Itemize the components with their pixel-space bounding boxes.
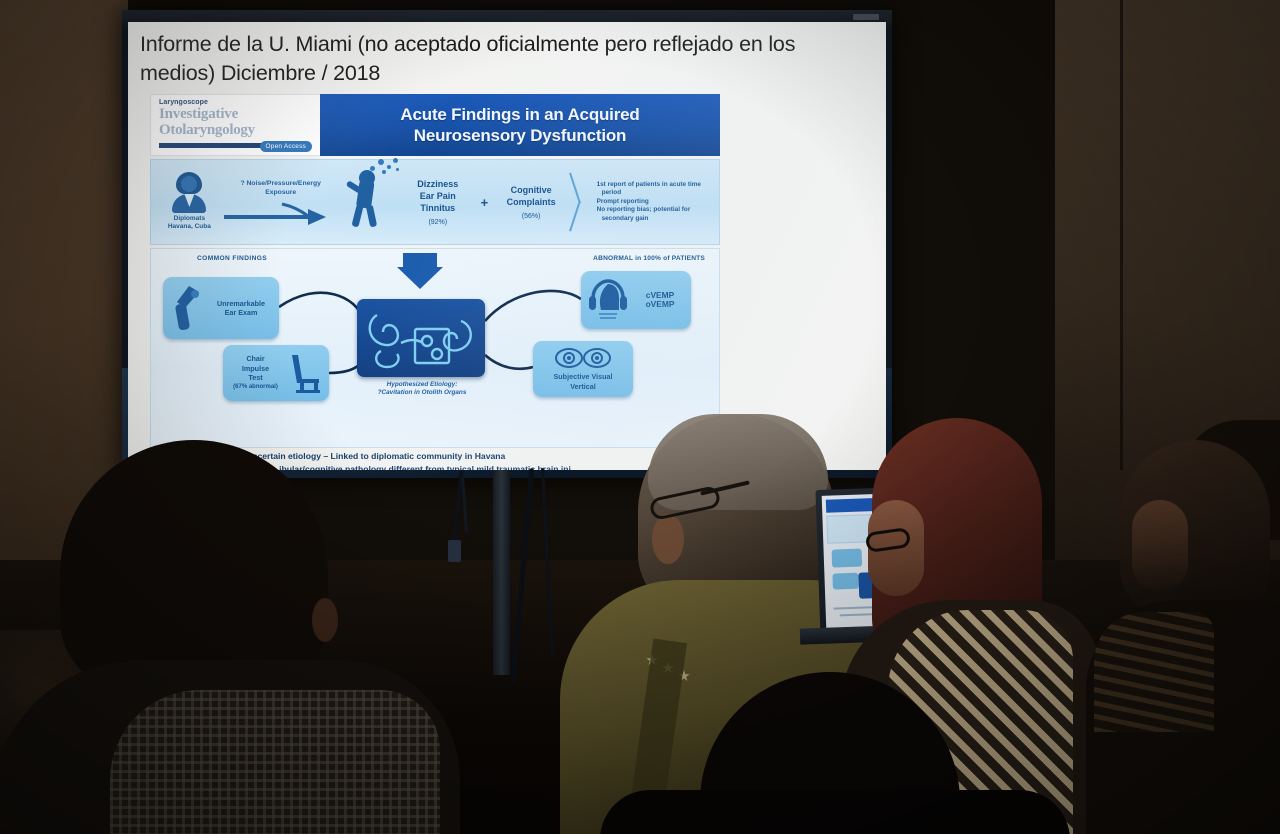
card-chair-impulse-label: Chair Impulse Test (67% abnormal) — [223, 354, 288, 392]
otoscope-icon — [169, 284, 203, 332]
laptop-mini-card-1 — [832, 549, 863, 568]
plus-sign: + — [477, 195, 492, 210]
hypothesis-hub — [357, 299, 485, 377]
cable-2 — [461, 475, 468, 533]
diplomat-caption-line2: Havana, Cuba — [168, 223, 211, 231]
brace-icon — [570, 172, 590, 232]
diplomat-caption-line1: Diplomats — [168, 215, 211, 223]
card-chair-impulse-line1: Chair — [223, 354, 288, 364]
card-ear-exam-label: Unremarkable Ear Exam — [203, 299, 279, 318]
right-arrow-icon — [222, 201, 340, 225]
gingham-shirt-pattern — [110, 690, 440, 834]
tv-brand-badge — [853, 14, 879, 20]
card-ear-exam: Unremarkable Ear Exam — [163, 277, 279, 339]
diplomat-icon — [171, 173, 207, 213]
card-ear-exam-line2: Ear Exam — [203, 308, 279, 318]
figure-header: Laryngoscope Investigative Otolaryngolog… — [150, 94, 720, 156]
headphones-head-icon — [587, 278, 629, 322]
card-svv-line1: Subjective Visual — [554, 372, 613, 382]
notes-bullet-list: 1st report of patients in acute time per… — [591, 181, 719, 224]
card-chair-impulse-percent: (67% abnormal) — [223, 383, 288, 393]
diplomat-caption: Diplomats Havana, Cuba — [168, 215, 211, 231]
exposure-arrow-area — [222, 201, 340, 225]
wall-seam — [1120, 0, 1123, 470]
eyes-icon — [554, 347, 612, 369]
journal-logo: Laryngoscope Investigative Otolaryngolog… — [150, 94, 320, 156]
banner-line-1: Acute Findings in an Acquired — [400, 104, 639, 125]
card-vemp-line2: oVEMP — [629, 300, 691, 310]
symptom-line1: Dizziness — [398, 178, 477, 190]
tv-stand-pole — [493, 470, 510, 675]
presentation-slide: Informe de la U. Miami (no aceptado ofic… — [128, 22, 886, 470]
slide-title: Informe de la U. Miami (no aceptado ofic… — [140, 30, 875, 88]
hypothesis-caption-line2: ?Cavitation in Otolith Organs — [327, 389, 517, 397]
journal-name-line1: Laryngoscope — [159, 99, 314, 106]
card-chair-impulse: Chair Impulse Test (67% abnormal) — [223, 345, 329, 401]
symptom-line3: Tinnitus — [398, 202, 477, 214]
card-chair-impulse-line3: Test — [223, 373, 288, 383]
figure-graphic: Laryngoscope Investigative Otolaryngolog… — [150, 94, 720, 448]
laptop-mini-card-2 — [832, 573, 859, 590]
military-officer-ear — [652, 514, 684, 564]
sick-person-leg-left — [351, 204, 363, 227]
bullet-item-1: Prompt reporting — [595, 198, 719, 207]
cognitive-percent: (56%) — [492, 213, 571, 220]
cable-plug — [448, 540, 461, 562]
journal-rule — [159, 143, 271, 148]
card-vemp: cVEMP oVEMP — [581, 271, 691, 329]
cognitive-line2: Complaints — [492, 196, 571, 208]
photo-scene: Informe de la U. Miami (no aceptado ofic… — [0, 0, 1280, 834]
card-chair-impulse-line2: Impulse — [223, 364, 288, 374]
cognitive-group: Cognitive Complaints (56%) — [492, 184, 571, 220]
chair-icon — [288, 353, 324, 393]
hypothesis-caption-line1: Hypothesized Etiology: — [327, 381, 517, 389]
card-svv: Subjective Visual Vertical — [533, 341, 633, 397]
exposure-label-line2: Exposure — [222, 188, 340, 197]
bullet-item-2: No reporting bias; potential for seconda… — [595, 206, 719, 223]
audience-face-far-right — [1132, 500, 1188, 592]
banner-text: Acute Findings in an Acquired Neurosenso… — [400, 104, 639, 146]
symptoms-group: Dizziness Ear Pain Tinnitus (92%) — [398, 178, 477, 226]
exposure-label-line1: ? Noise/Pressure/Energy — [222, 179, 340, 188]
exposure-group: ? Noise/Pressure/Energy Exposure — [222, 179, 340, 225]
cognitive-line1: Cognitive — [492, 184, 571, 196]
inner-ear-cochlea-icon — [357, 299, 485, 377]
card-ear-exam-line1: Unremarkable — [203, 299, 279, 309]
symptom-percent: (92%) — [398, 219, 477, 226]
exposure-row: Diplomats Havana, Cuba ? Noise/Pressure/… — [150, 159, 720, 245]
symptomatic-person-icon — [342, 172, 399, 232]
findings-row: COMMON FINDINGS ABNORMAL in 100% of PATI… — [150, 248, 720, 448]
sick-person-leg-right — [366, 205, 377, 228]
card-svv-line2: Vertical — [554, 382, 613, 392]
journal-name-line3: Otolaryngology — [159, 122, 314, 138]
audience-shoulders-foreground-center — [600, 790, 1070, 834]
banner-line-2: Neurosensory Dysfunction — [400, 125, 639, 146]
hypothesis-caption: Hypothesized Etiology: ?Cavitation in Ot… — [327, 381, 517, 398]
audience-ear-foreground-left — [312, 598, 338, 642]
bullet-item-0: 1st report of patients in acute time per… — [595, 181, 719, 198]
striped-garment-far-right — [1094, 612, 1214, 732]
card-svv-label: Subjective Visual Vertical — [554, 372, 613, 391]
audience-head-foreground-left — [60, 440, 328, 690]
open-access-badge: Open Access — [260, 141, 313, 152]
journal-name-line2: Investigative — [159, 106, 314, 122]
card-vemp-label: cVEMP oVEMP — [629, 291, 691, 310]
figure-banner: Acute Findings in an Acquired Neurosenso… — [320, 94, 720, 156]
diplomat-group: Diplomats Havana, Cuba — [161, 173, 218, 231]
symptom-line2: Ear Pain — [398, 190, 477, 202]
